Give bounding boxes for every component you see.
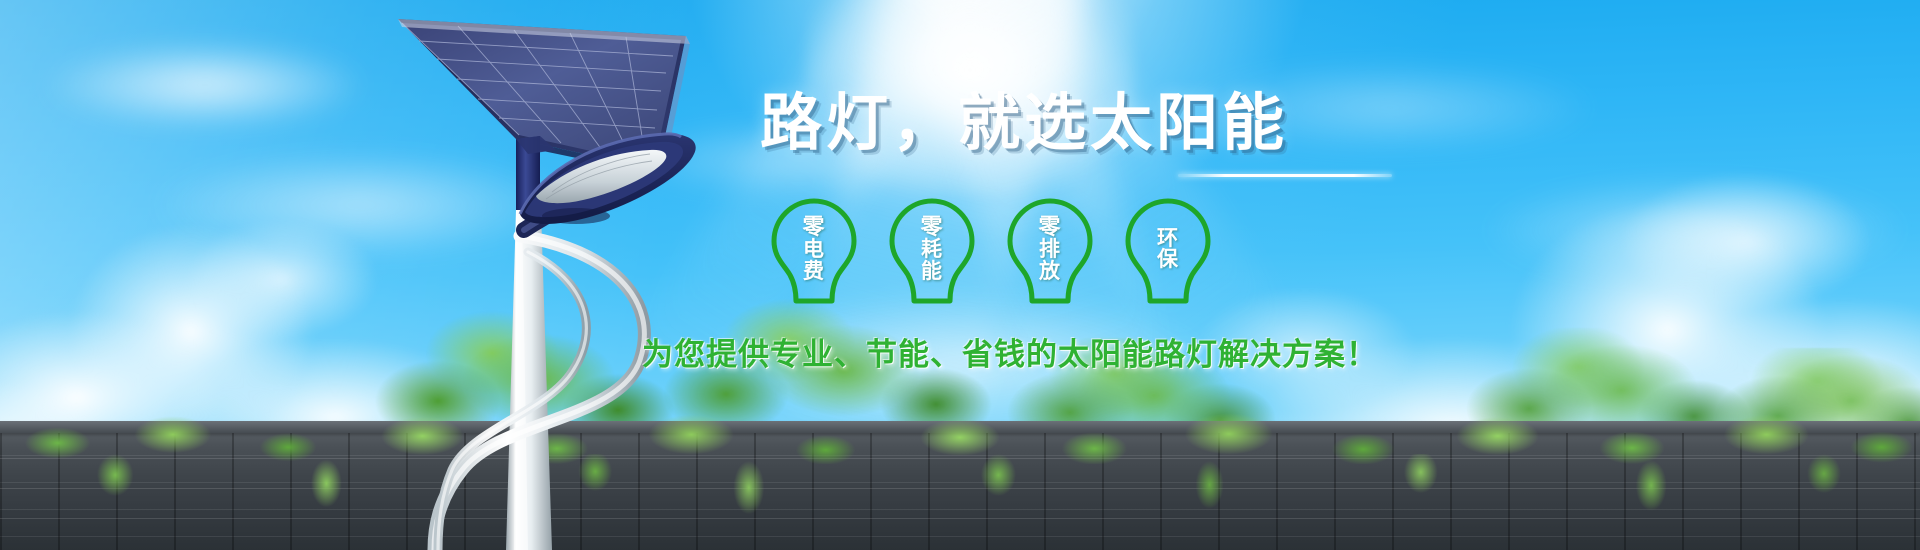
solar-street-light-banner: 路灯，就选太阳能 零 电 费 零 耗 能 <box>0 0 1920 550</box>
badge-text: 零 电 费 <box>802 216 825 286</box>
badge-line2: 放 <box>1039 261 1061 282</box>
badge-environmental-protection[interactable]: 环 保 <box>1120 195 1216 307</box>
badge-text: 环 保 <box>1157 228 1179 275</box>
badge-text: 零 耗 能 <box>920 216 943 286</box>
badge-zero-emission[interactable]: 零 排 放 <box>1002 195 1098 307</box>
badge-zero-label: 零 <box>802 216 825 239</box>
cloud-wisp <box>40 40 370 130</box>
badge-line2: 能 <box>921 261 943 282</box>
page-title: 路灯，就选太阳能 <box>760 92 1460 154</box>
banner-copy: 路灯，就选太阳能 零 电 费 零 耗 能 <box>760 92 1460 374</box>
badge-line1: 环 <box>1157 228 1179 249</box>
badge-line1: 排 <box>1039 239 1061 260</box>
badge-line1: 耗 <box>921 239 943 260</box>
badge-zero-label: 零 <box>1038 216 1061 239</box>
badge-zero-label: 零 <box>920 216 943 239</box>
badge-text: 零 排 放 <box>1038 216 1061 286</box>
badge-zero-electricity-cost[interactable]: 零 电 费 <box>766 195 862 307</box>
banner-subtitle: 为您提供专业、节能、省钱的太阳能路灯解决方案！ <box>642 329 1460 374</box>
ivy-drape <box>0 454 1920 524</box>
badge-line2: 保 <box>1157 249 1179 270</box>
badge-line1: 电 <box>803 239 825 260</box>
badge-line2: 费 <box>803 261 825 282</box>
title-divider <box>1178 174 1392 177</box>
feature-badge-list: 零 电 费 零 耗 能 零 <box>766 195 1460 307</box>
badge-zero-energy-consumption[interactable]: 零 耗 能 <box>884 195 980 307</box>
